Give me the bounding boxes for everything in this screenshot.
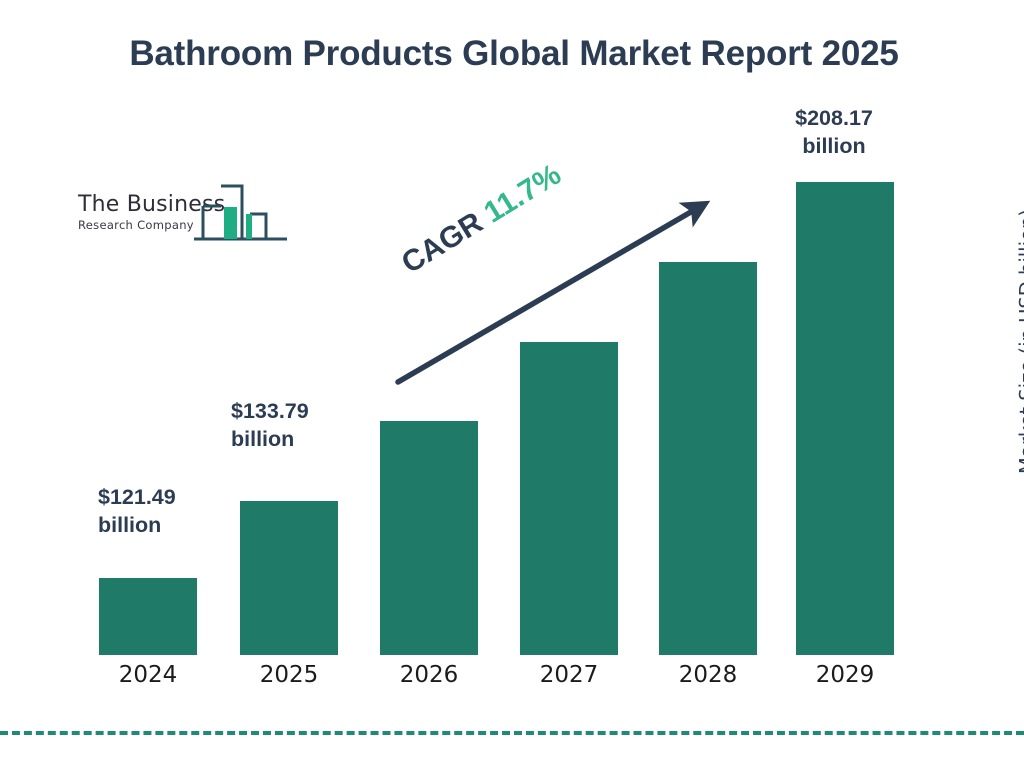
y-axis-title: Market Size (in USD billion) <box>1016 177 1024 507</box>
cagr-label: CAGR <box>396 206 489 280</box>
x-tick-2027: 2027 <box>520 662 618 688</box>
x-tick-2025: 2025 <box>240 662 338 688</box>
x-tick-2026: 2026 <box>380 662 478 688</box>
bar-2029 <box>796 182 894 655</box>
bar-2024 <box>99 578 197 655</box>
bar-2025 <box>240 501 338 655</box>
bar-2028 <box>659 262 757 655</box>
x-tick-2024: 2024 <box>99 662 197 688</box>
chart-canvas: Bathroom Products Global Market Report 2… <box>0 0 1024 768</box>
cagr-annotation: CAGR 11.7% <box>396 158 567 281</box>
value-label-2025: $133.79 billion <box>231 397 309 454</box>
value-label-2029: $208.17 billion <box>770 104 898 161</box>
bar-chart-logo-mark-icon <box>194 182 290 244</box>
x-tick-2028: 2028 <box>659 662 757 688</box>
x-tick-2029: 2029 <box>796 662 894 688</box>
value-label-2024: $121.49 billion <box>98 483 176 540</box>
bar-2026 <box>380 421 478 655</box>
bar-2027 <box>520 342 618 655</box>
page-title: Bathroom Products Global Market Report 2… <box>104 32 924 77</box>
company-logo: The Business Research Company <box>78 182 288 254</box>
footer-divider <box>0 731 1024 735</box>
cagr-value: 11.7% <box>478 158 566 230</box>
